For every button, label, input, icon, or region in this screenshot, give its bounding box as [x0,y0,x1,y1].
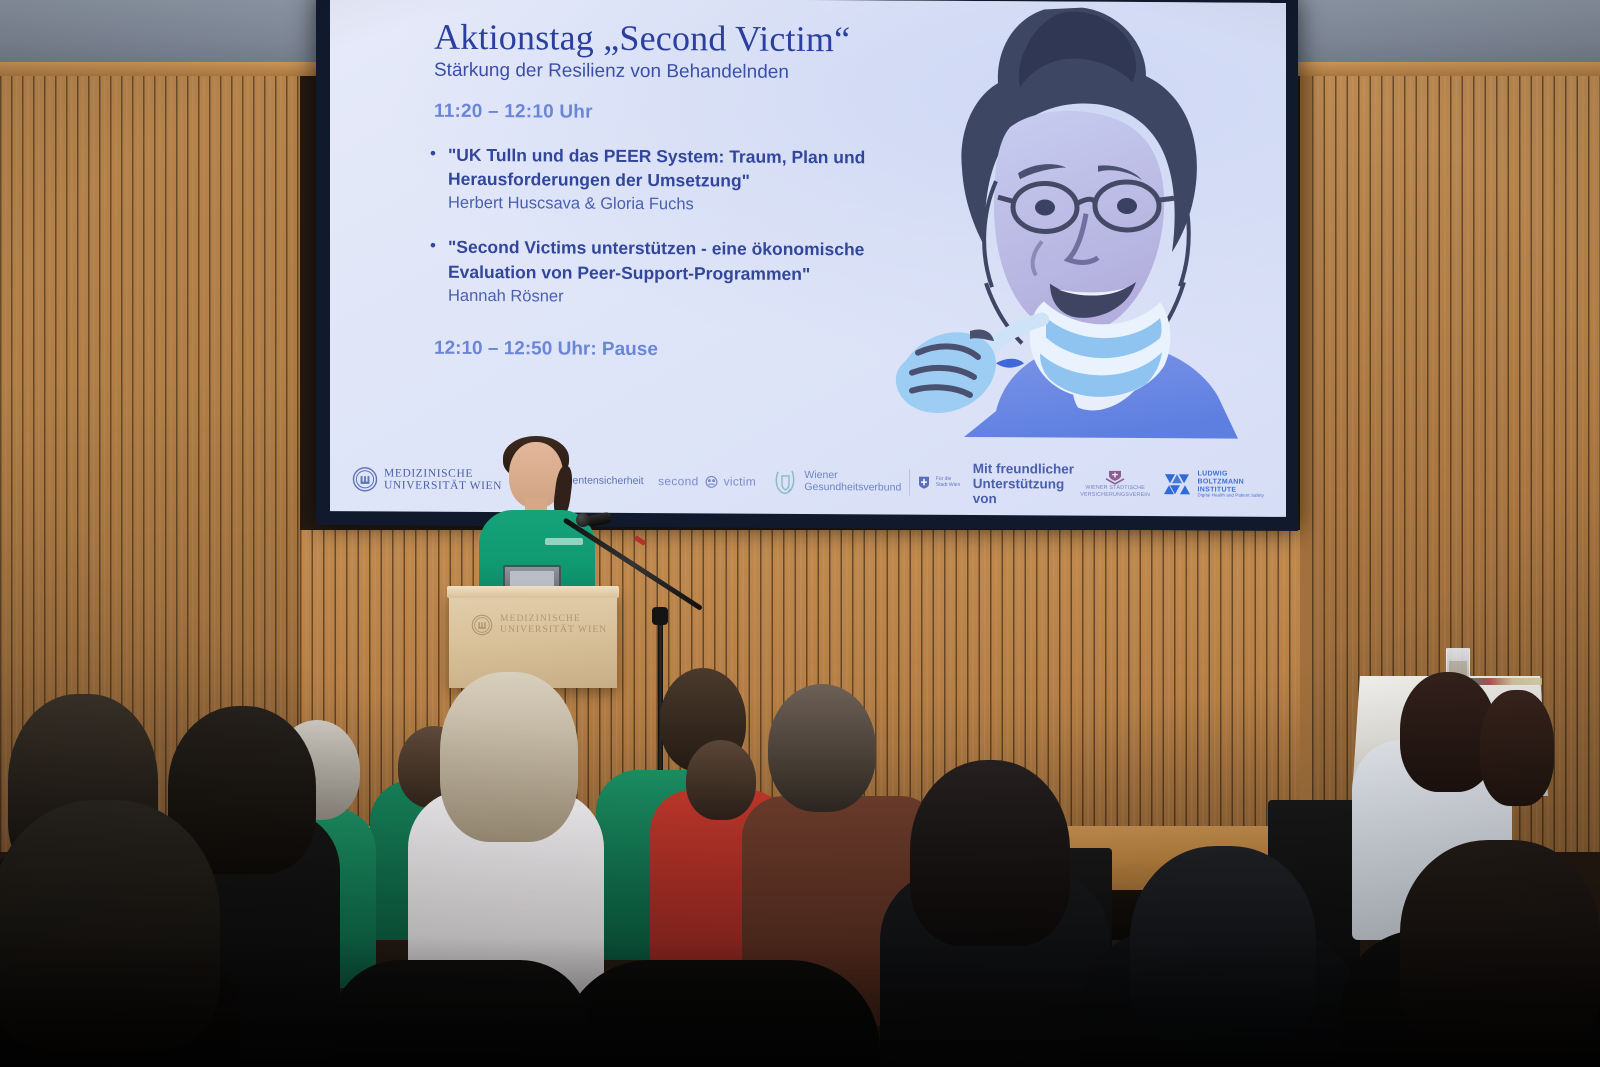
logo-stadt-wien: Für die Stadt Wien [918,476,960,490]
attendee-head [1480,690,1554,806]
bullet-title: "Second Victims unterstützen - eine ökon… [448,237,864,283]
masked-healthcare-worker-portrait [846,0,1276,443]
mic-windscreen [576,513,590,527]
lbi-triangles-icon [1162,471,1192,497]
sponsor-ludwig-boltzmann: LUDWIG BOLTZMANN INSTITUTE Digital Healt… [1162,470,1265,498]
attendee-head-foreground [330,960,590,1067]
sponsor-line-1: WIENER STÄDTISCHE [1080,485,1150,492]
screenshot-root: Aktionstag „Second Victim“ Stärkung der … [0,0,1600,1067]
sponsor-line-1: LUDWIG [1198,471,1265,479]
sponsor-wiener-staedtische: WIENER STÄDTISCHE VERSICHERUNGSVEREIN [1080,470,1150,498]
attendee-head-blonde [440,672,578,842]
wsv-crown-icon [1105,470,1125,485]
sponsor-line-2: BOLTZMANN [1198,478,1265,486]
logo-second-victim: second victim [658,474,756,489]
mic-indicator-light [634,535,647,546]
attendee-head-foreground [1400,840,1600,1050]
mic-boom-arm [563,517,703,611]
slide-subtitle: Stärkung der Resilienz von Behandelnden [434,60,789,84]
wgv-shield-icon [772,468,798,496]
attendee-head-foreground [0,800,220,1050]
logo-wiener-gesundheitsverbund: Wiener Gesundheitsverbund [772,468,901,497]
bullet-marker-icon: • [430,143,448,215]
logo-line-2: Stadt Wien [936,483,960,489]
bullet-title: "UK Tulln und das PEER System: Traum, Pl… [448,145,865,191]
vienna-coat-of-arms-icon [918,476,930,490]
second-victim-mark-icon [705,475,718,488]
table-items [1468,678,1542,685]
logo-word-victim: victim [724,474,756,488]
mic-joint [652,607,668,625]
bullet-marker-icon: • [430,235,448,307]
logo-line-2: Gesundheitsverbund [804,482,901,494]
slide-title: Aktionstag „Second Victim“ [434,16,850,61]
slide-break-line: 12:10 – 12:50 Uhr: Pause [434,338,658,361]
meduni-monogram-icon [471,614,493,636]
attendee-head [686,740,756,820]
attendee-head-foreground [1130,846,1316,1046]
meduni-monogram-icon [352,466,378,492]
sponsor-tagline: Digital Health and Patient Safety [1198,494,1265,499]
logo-word-second: second [658,474,699,488]
sponsor-line-2: VERSICHERUNGSVEREIN [1080,491,1150,498]
attendee-head-foreground [910,760,1070,946]
slide-time-block: 11:20 – 12:10 Uhr [434,101,593,124]
support-note: Mit freundlicher Unterstützung von [973,461,1081,507]
attendee-body-foreground [560,960,880,1067]
attendee-head [768,684,876,812]
